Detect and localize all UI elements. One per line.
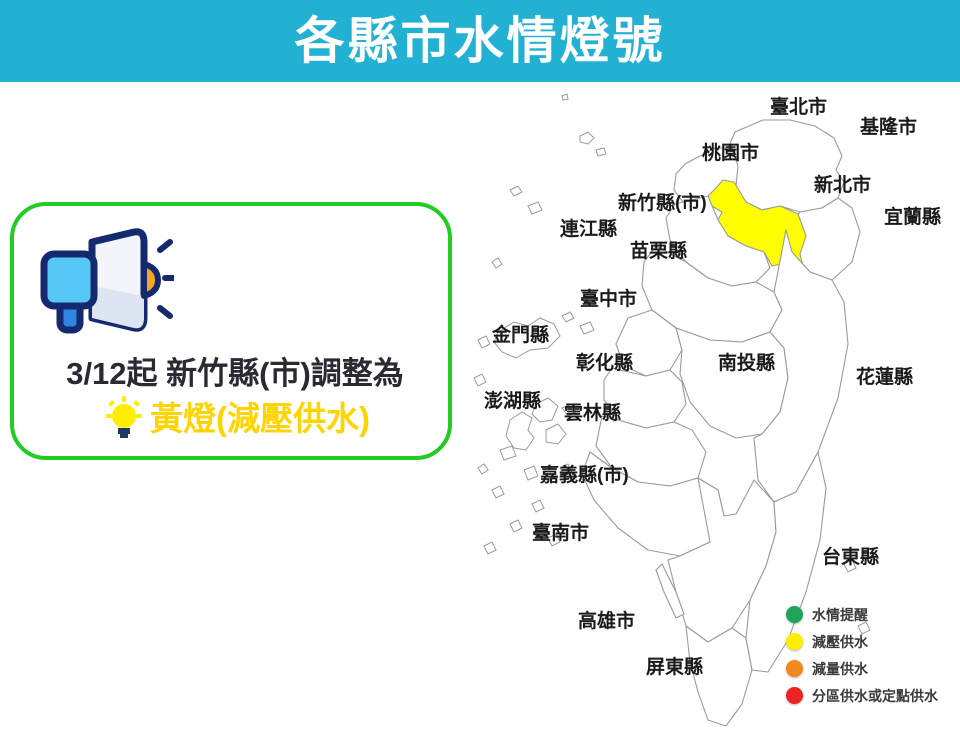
legend-label-orange: 減量供水 — [812, 662, 868, 676]
map-label-chiayi-county: 嘉義縣(市) — [540, 466, 629, 485]
legend-item-red: 分區供水或定點供水 — [786, 682, 958, 709]
map-label-yunlin-county: 雲林縣 — [564, 404, 621, 423]
map-label-taitung-county: 台東縣 — [822, 548, 879, 567]
announcement-card: 3/12起 新竹縣(市)調整為 黃燈(減壓供水) — [10, 202, 452, 460]
map-label-taichung-city: 臺中市 — [580, 290, 637, 309]
map-label-yilan-county: 宜蘭縣 — [884, 208, 941, 227]
map-label-kinmen-county: 金門縣 — [492, 326, 549, 345]
legend-label-yellow: 減壓供水 — [812, 635, 868, 649]
legend-dot-yellow — [786, 633, 803, 650]
map-label-keelung-city: 基隆市 — [860, 118, 917, 137]
map-label-miaoli-county: 苗栗縣 — [630, 242, 687, 261]
legend-dot-orange — [786, 660, 803, 677]
map-label-new-taipei-city: 新北市 — [814, 176, 871, 195]
map-label-lienchiang-county: 連江縣 — [560, 220, 617, 239]
region-new-taipei-city — [728, 120, 844, 212]
map-legend: 水情提醒 減壓供水 減量供水 分區供水或定點供水 — [786, 601, 958, 709]
megaphone-icon — [34, 224, 174, 336]
map-label-taoyuan-city: 桃園市 — [702, 144, 759, 163]
legend-item-yellow: 減壓供水 — [786, 628, 958, 655]
legend-item-green: 水情提醒 — [786, 601, 958, 628]
map-label-taipei-city: 臺北市 — [770, 98, 827, 117]
map-label-nantou-county: 南投縣 — [718, 354, 775, 373]
map-label-changhua-county: 彰化縣 — [576, 354, 633, 373]
announcement-line2-row: 黃燈(減壓供水) — [14, 390, 456, 442]
announcement-line2: 黃燈(減壓供水) — [150, 392, 370, 440]
legend-dot-green — [786, 606, 803, 623]
map-label-penghu-county: 澎湖縣 — [484, 392, 541, 411]
map-label-hsinchu-county: 新竹縣(市) — [618, 194, 707, 213]
map-label-pingtung-county: 屏東縣 — [646, 658, 703, 677]
announcement-line1: 3/12起 新竹縣(市)調整為 — [14, 348, 456, 393]
map-label-hualien-county: 花蓮縣 — [856, 368, 913, 387]
region-nantou-county — [676, 328, 788, 438]
lightbulb-icon — [100, 394, 148, 442]
legend-label-green: 水情提醒 — [812, 608, 868, 622]
map-label-tainan-city: 臺南市 — [532, 524, 589, 543]
legend-item-orange: 減量供水 — [786, 655, 958, 682]
header-banner: 各縣市水情燈號 — [0, 0, 960, 82]
legend-label-red: 分區供水或定點供水 — [812, 689, 938, 703]
map-label-kaohsiung-city: 高雄市 — [578, 612, 635, 631]
page-title: 各縣市水情燈號 — [295, 16, 666, 66]
legend-dot-red — [786, 687, 803, 704]
taiwan-map: 臺北市 基隆市 桃園市 新北市 新竹縣(市) 宜蘭縣 連江縣 苗栗縣 臺中市 金… — [470, 86, 960, 737]
